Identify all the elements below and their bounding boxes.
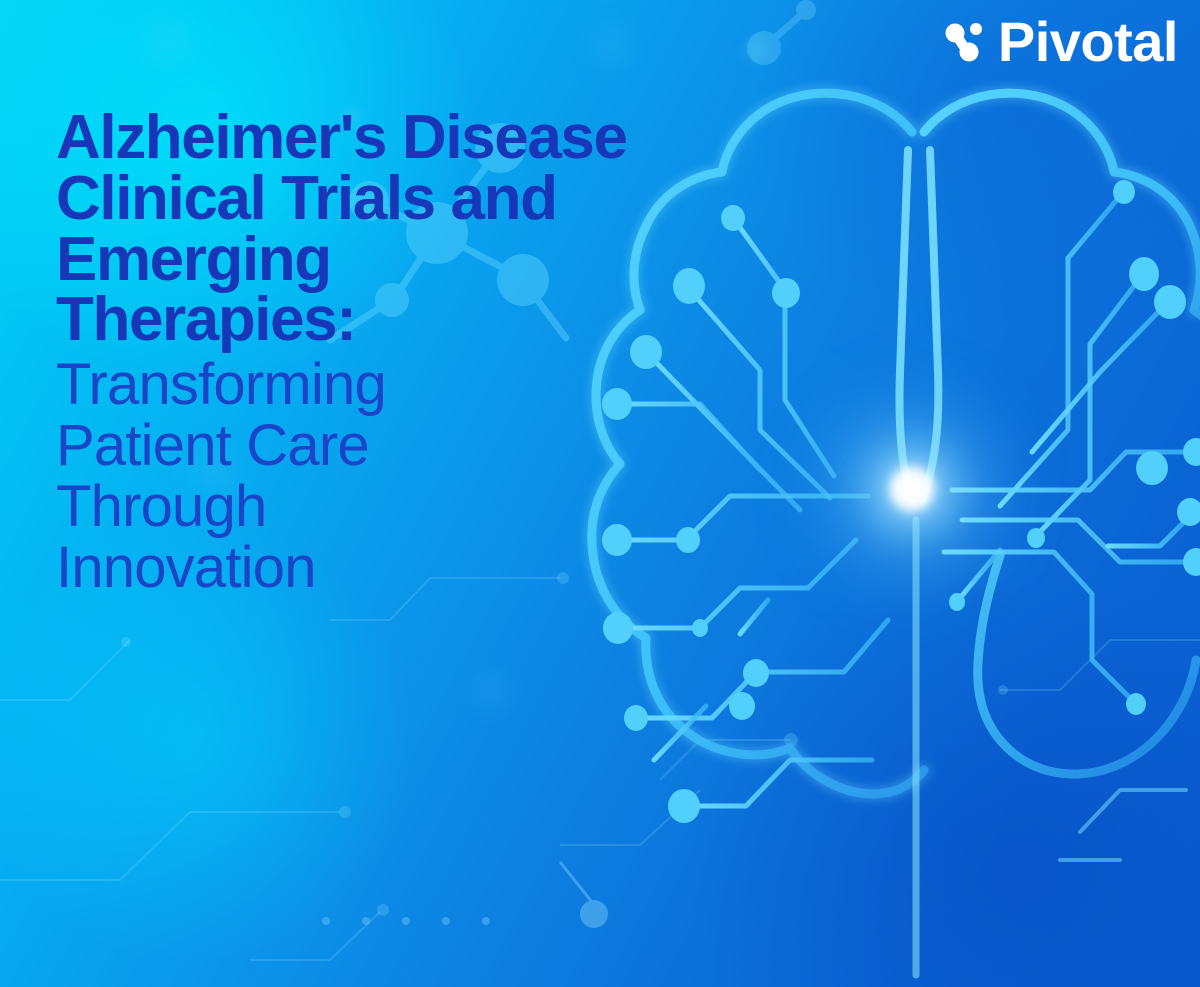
background-glow-bottom-right (580, 467, 1200, 987)
brand-logo[interactable]: Pivotal (942, 14, 1178, 70)
hero-banner: Pivotal Alzheimer's Disease Clinical Tri… (0, 0, 1200, 987)
molecule-nodes-icon (942, 17, 992, 67)
page-title: Alzheimer's Disease Clinical Trials and … (56, 108, 636, 351)
brand-name: Pivotal (998, 14, 1178, 70)
page-subtitle: Transforming Patient Care Through Innova… (56, 355, 486, 599)
hero-text-block: Alzheimer's Disease Clinical Trials and … (56, 108, 656, 599)
